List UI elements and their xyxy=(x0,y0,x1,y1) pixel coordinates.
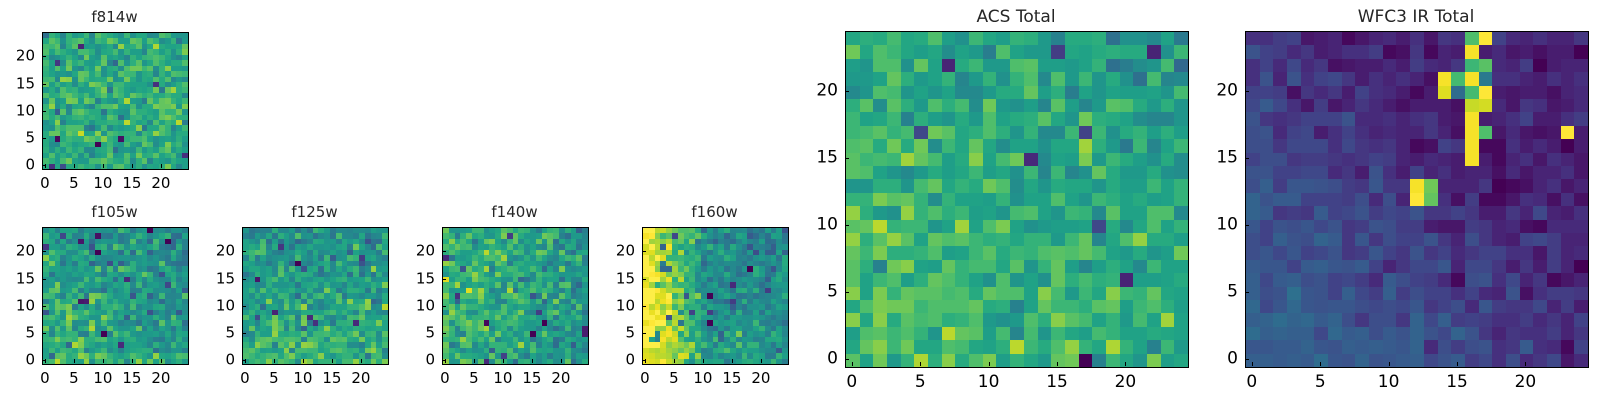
xtick-mark xyxy=(161,164,162,168)
xtick-mark xyxy=(1457,362,1458,366)
heatmap-cells xyxy=(43,33,188,169)
heatmap-cells xyxy=(443,228,588,364)
xtick-mark xyxy=(45,164,46,168)
ytick-mark xyxy=(1245,292,1249,293)
ytick-label: 20 xyxy=(216,244,235,259)
ytick-mark xyxy=(1245,158,1249,159)
xtick-mark xyxy=(132,359,133,363)
xtick-mark xyxy=(732,359,733,363)
xtick-label: 5 xyxy=(69,371,79,386)
ytick-label: 5 xyxy=(225,326,235,341)
ytick-mark xyxy=(442,279,446,280)
xtick-label: 20 xyxy=(551,371,570,386)
xtick-mark xyxy=(503,359,504,363)
ytick-mark xyxy=(642,333,646,334)
ytick-label: 0 xyxy=(225,353,235,368)
xtick-mark xyxy=(852,362,853,366)
ytick-label: 5 xyxy=(25,326,35,341)
ytick-mark xyxy=(642,306,646,307)
xtick-label: 10 xyxy=(1378,374,1400,391)
xtick-label: 20 xyxy=(1515,374,1537,391)
xtick-label: 20 xyxy=(151,176,170,191)
ytick-label: 20 xyxy=(1216,83,1238,100)
ytick-label: 5 xyxy=(625,326,635,341)
heatmap-f140w[interactable] xyxy=(442,227,589,365)
xtick-mark xyxy=(761,359,762,363)
heatmap-cells xyxy=(43,228,188,364)
xtick-label: 20 xyxy=(751,371,770,386)
ytick-label: 0 xyxy=(1227,351,1238,368)
ytick-mark xyxy=(42,333,46,334)
heatmap-f814w[interactable] xyxy=(42,32,189,170)
xtick-label: 15 xyxy=(1046,374,1068,391)
ytick-mark xyxy=(642,251,646,252)
xtick-label: 0 xyxy=(440,371,450,386)
ytick-label: 0 xyxy=(25,353,35,368)
xtick-mark xyxy=(303,359,304,363)
ytick-label: 10 xyxy=(816,217,838,234)
ytick-label: 5 xyxy=(25,131,35,146)
xtick-label: 15 xyxy=(122,371,141,386)
ytick-label: 5 xyxy=(827,284,838,301)
xtick-label: 10 xyxy=(693,371,712,386)
xtick-mark xyxy=(474,359,475,363)
xtick-label: 0 xyxy=(846,374,857,391)
ytick-mark xyxy=(442,251,446,252)
ytick-label: 15 xyxy=(16,271,35,286)
ytick-mark xyxy=(242,333,246,334)
xtick-label: 10 xyxy=(93,176,112,191)
xtick-mark xyxy=(274,359,275,363)
heatmap-cells xyxy=(643,228,788,364)
ytick-mark xyxy=(1245,359,1249,360)
ytick-label: 20 xyxy=(616,244,635,259)
xtick-mark xyxy=(74,164,75,168)
xtick-label: 20 xyxy=(1115,374,1137,391)
xtick-label: 15 xyxy=(522,371,541,386)
panel-title-wfc3-ir-total: WFC3 IR Total xyxy=(1205,9,1600,26)
panel-f140w: f140w0510152005101520 xyxy=(402,201,627,407)
xtick-label: 5 xyxy=(269,371,279,386)
ytick-label: 20 xyxy=(16,244,35,259)
ytick-label: 0 xyxy=(827,351,838,368)
panel-title-f160w: f160w xyxy=(602,205,827,220)
panel-f814w: f814w0510152005101520 xyxy=(2,6,227,212)
xtick-label: 15 xyxy=(1446,374,1468,391)
xtick-mark xyxy=(103,164,104,168)
panel-f160w: f160w0510152005101520 xyxy=(602,201,827,407)
ytick-label: 10 xyxy=(16,298,35,313)
panel-f105w: f105w0510152005101520 xyxy=(2,201,227,407)
heatmap-cells xyxy=(243,228,388,364)
xtick-label: 5 xyxy=(69,176,79,191)
ytick-label: 10 xyxy=(1216,217,1238,234)
ytick-label: 5 xyxy=(1227,284,1238,301)
xtick-label: 10 xyxy=(293,371,312,386)
xtick-label: 5 xyxy=(1315,374,1326,391)
ytick-mark xyxy=(442,306,446,307)
xtick-mark xyxy=(74,359,75,363)
xtick-mark xyxy=(1252,362,1253,366)
panel-f125w: f125w0510152005101520 xyxy=(202,201,427,407)
xtick-label: 5 xyxy=(469,371,479,386)
ytick-mark xyxy=(42,111,46,112)
xtick-mark xyxy=(703,359,704,363)
xtick-label: 0 xyxy=(240,371,250,386)
ytick-label: 5 xyxy=(425,326,435,341)
ytick-label: 10 xyxy=(216,298,235,313)
ytick-mark xyxy=(242,279,246,280)
heatmap-cells xyxy=(1246,32,1588,367)
ytick-label: 0 xyxy=(625,353,635,368)
ytick-label: 10 xyxy=(416,298,435,313)
ytick-mark xyxy=(42,56,46,57)
xtick-label: 15 xyxy=(722,371,741,386)
ytick-mark xyxy=(242,251,246,252)
panel-title-f125w: f125w xyxy=(202,205,427,220)
ytick-mark xyxy=(42,251,46,252)
xtick-label: 0 xyxy=(640,371,650,386)
ytick-mark xyxy=(42,84,46,85)
ytick-mark xyxy=(642,279,646,280)
ytick-mark xyxy=(845,225,849,226)
ytick-label: 0 xyxy=(25,158,35,173)
xtick-mark xyxy=(920,362,921,366)
xtick-mark xyxy=(103,359,104,363)
ytick-label: 15 xyxy=(16,76,35,91)
xtick-label: 20 xyxy=(351,371,370,386)
xtick-mark xyxy=(161,359,162,363)
xtick-label: 0 xyxy=(40,371,50,386)
panel-title-f140w: f140w xyxy=(402,205,627,220)
xtick-label: 10 xyxy=(978,374,1000,391)
xtick-mark xyxy=(132,164,133,168)
xtick-mark xyxy=(361,359,362,363)
xtick-mark xyxy=(532,359,533,363)
ytick-label: 20 xyxy=(816,83,838,100)
xtick-mark xyxy=(674,359,675,363)
ytick-label: 15 xyxy=(816,150,838,167)
xtick-mark xyxy=(45,359,46,363)
xtick-label: 0 xyxy=(40,176,50,191)
heatmap-f160w[interactable] xyxy=(642,227,789,365)
panel-wfc3-ir-total: WFC3 IR Total0510152005101520 xyxy=(1205,5,1600,410)
ytick-mark xyxy=(845,91,849,92)
ytick-mark xyxy=(42,138,46,139)
ytick-label: 15 xyxy=(616,271,635,286)
ytick-mark xyxy=(845,292,849,293)
xtick-label: 10 xyxy=(93,371,112,386)
heatmap-f125w[interactable] xyxy=(242,227,389,365)
xtick-label: 0 xyxy=(1246,374,1257,391)
xtick-mark xyxy=(561,359,562,363)
xtick-mark xyxy=(989,362,990,366)
heatmap-wfc3-ir-total[interactable] xyxy=(1245,31,1589,368)
xtick-mark xyxy=(332,359,333,363)
xtick-label: 10 xyxy=(493,371,512,386)
ytick-label: 15 xyxy=(1216,150,1238,167)
xtick-label: 15 xyxy=(122,176,141,191)
ytick-label: 10 xyxy=(16,103,35,118)
xtick-label: 20 xyxy=(151,371,170,386)
panel-title-acs-total: ACS Total xyxy=(805,9,1227,26)
ytick-label: 0 xyxy=(425,353,435,368)
ytick-mark xyxy=(845,359,849,360)
ytick-mark xyxy=(1245,225,1249,226)
ytick-mark xyxy=(42,279,46,280)
xtick-label: 15 xyxy=(322,371,341,386)
xtick-label: 5 xyxy=(915,374,926,391)
ytick-label: 20 xyxy=(16,49,35,64)
xtick-mark xyxy=(1525,362,1526,366)
xtick-mark xyxy=(645,359,646,363)
xtick-mark xyxy=(1057,362,1058,366)
xtick-mark xyxy=(445,359,446,363)
ytick-label: 20 xyxy=(416,244,435,259)
panel-title-f105w: f105w xyxy=(2,205,227,220)
xtick-mark xyxy=(1320,362,1321,366)
panel-title-f814w: f814w xyxy=(2,10,227,25)
ytick-mark xyxy=(845,158,849,159)
panel-acs-total: ACS Total0510152005101520 xyxy=(805,5,1227,410)
ytick-label: 15 xyxy=(416,271,435,286)
heatmap-cells xyxy=(846,32,1188,367)
heatmap-acs-total[interactable] xyxy=(845,31,1189,368)
ytick-mark xyxy=(1245,91,1249,92)
ytick-mark xyxy=(42,306,46,307)
heatmap-f105w[interactable] xyxy=(42,227,189,365)
ytick-mark xyxy=(442,333,446,334)
xtick-mark xyxy=(245,359,246,363)
xtick-mark xyxy=(1389,362,1390,366)
ytick-label: 15 xyxy=(216,271,235,286)
ytick-mark xyxy=(242,306,246,307)
xtick-label: 5 xyxy=(669,371,679,386)
xtick-mark xyxy=(1125,362,1126,366)
ytick-label: 10 xyxy=(616,298,635,313)
